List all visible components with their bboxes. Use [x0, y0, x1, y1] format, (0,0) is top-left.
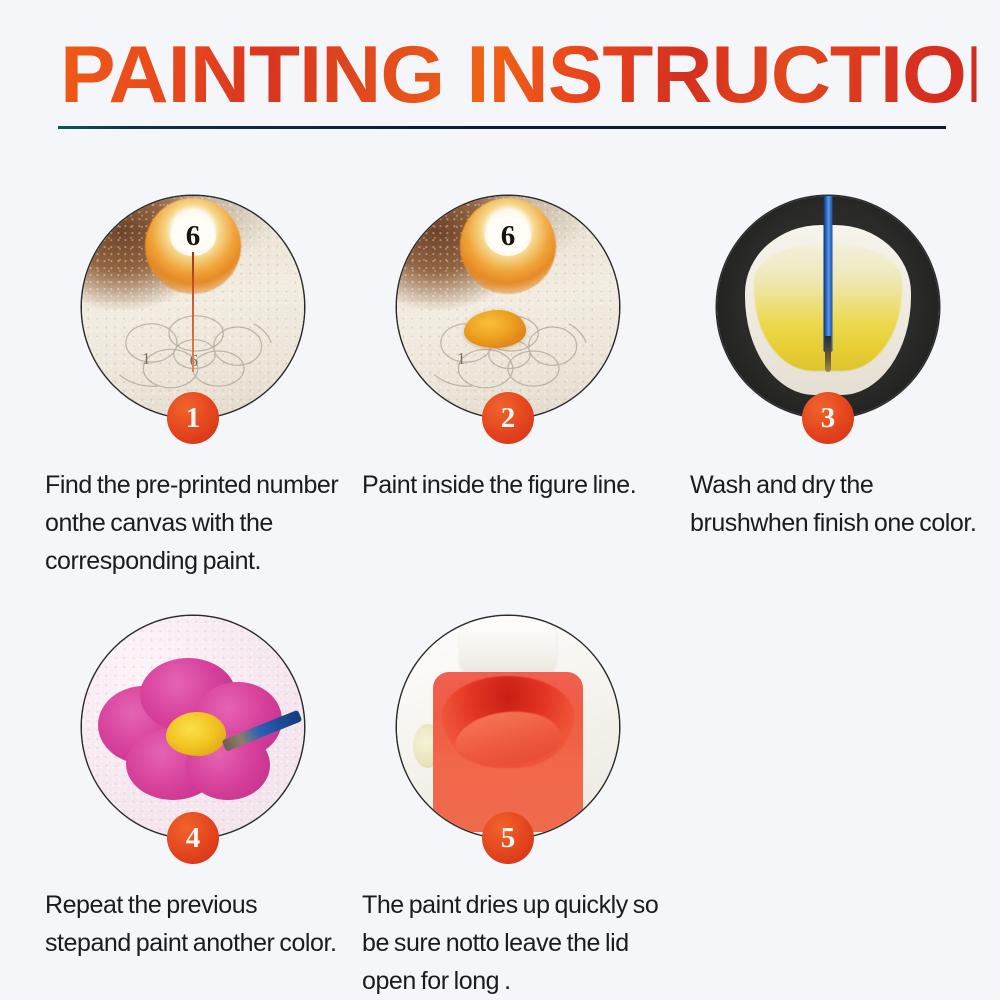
steps-grid: 1 6 6 1 Find the pre-printed number onth… [0, 150, 1000, 990]
step-card-3: 3 Wash and dry the brushwhen finish one … [668, 150, 988, 542]
flower-center [166, 712, 226, 756]
paint-pot-number-label: 6 [485, 216, 531, 256]
step-caption-4: Repeat the previous stepand paint anothe… [33, 886, 353, 962]
step-card-5: 5 The paint dries up quickly so be sure … [348, 570, 668, 1000]
step-caption-3: Wash and dry the brushwhen finish one co… [668, 466, 988, 542]
header: PAINTING INSTRUCTION [0, 0, 1000, 150]
brush-tip [825, 336, 831, 372]
step-card-1: 1 6 6 1 Find the pre-printed number onth… [33, 150, 353, 580]
step-caption-5: The paint dries up quickly so be sure no… [348, 886, 668, 1000]
title-underline-divider [58, 126, 946, 129]
step-card-4: 4 Repeat the previous stepand paint anot… [33, 570, 353, 962]
step-caption-2: Paint inside the figure line. [348, 466, 668, 504]
step-photo-4 [82, 616, 304, 838]
step-badge-3: 3 [802, 392, 854, 444]
step-badge-5: 5 [482, 812, 534, 864]
step-photo-2: 1 6 [397, 196, 619, 418]
pointer-line [192, 252, 194, 372]
step-card-2: 1 6 2 Paint inside the figure line. [348, 150, 668, 504]
step-photo-wrap-3: 3 [717, 196, 939, 418]
canvas-number-1-left: 1 [142, 349, 151, 369]
brush-handle [824, 196, 833, 352]
canvas-number-2-left: 1 [457, 349, 466, 369]
step-caption-1: Find the pre-printed number onthe canvas… [33, 466, 353, 580]
steps-row-2: 4 Repeat the previous stepand paint anot… [0, 570, 1000, 990]
step-badge-4: 4 [167, 812, 219, 864]
step-photo-5 [397, 616, 619, 838]
paint-pot-number-label: 6 [170, 216, 216, 256]
step-photo-wrap-1: 1 6 6 1 [82, 196, 304, 418]
applied-paint-blob [464, 310, 526, 348]
steps-row-1: 1 6 6 1 Find the pre-printed number onth… [0, 150, 1000, 570]
page-title: PAINTING INSTRUCTION [60, 34, 977, 116]
step-badge-2: 2 [482, 392, 534, 444]
step-photo-wrap-5: 5 [397, 616, 619, 838]
step-photo-3 [717, 196, 939, 418]
step-badge-1: 1 [167, 392, 219, 444]
step-photo-wrap-4: 4 [82, 616, 304, 838]
step-photo-1: 1 6 6 [82, 196, 304, 418]
step-photo-wrap-2: 1 6 2 [397, 196, 619, 418]
